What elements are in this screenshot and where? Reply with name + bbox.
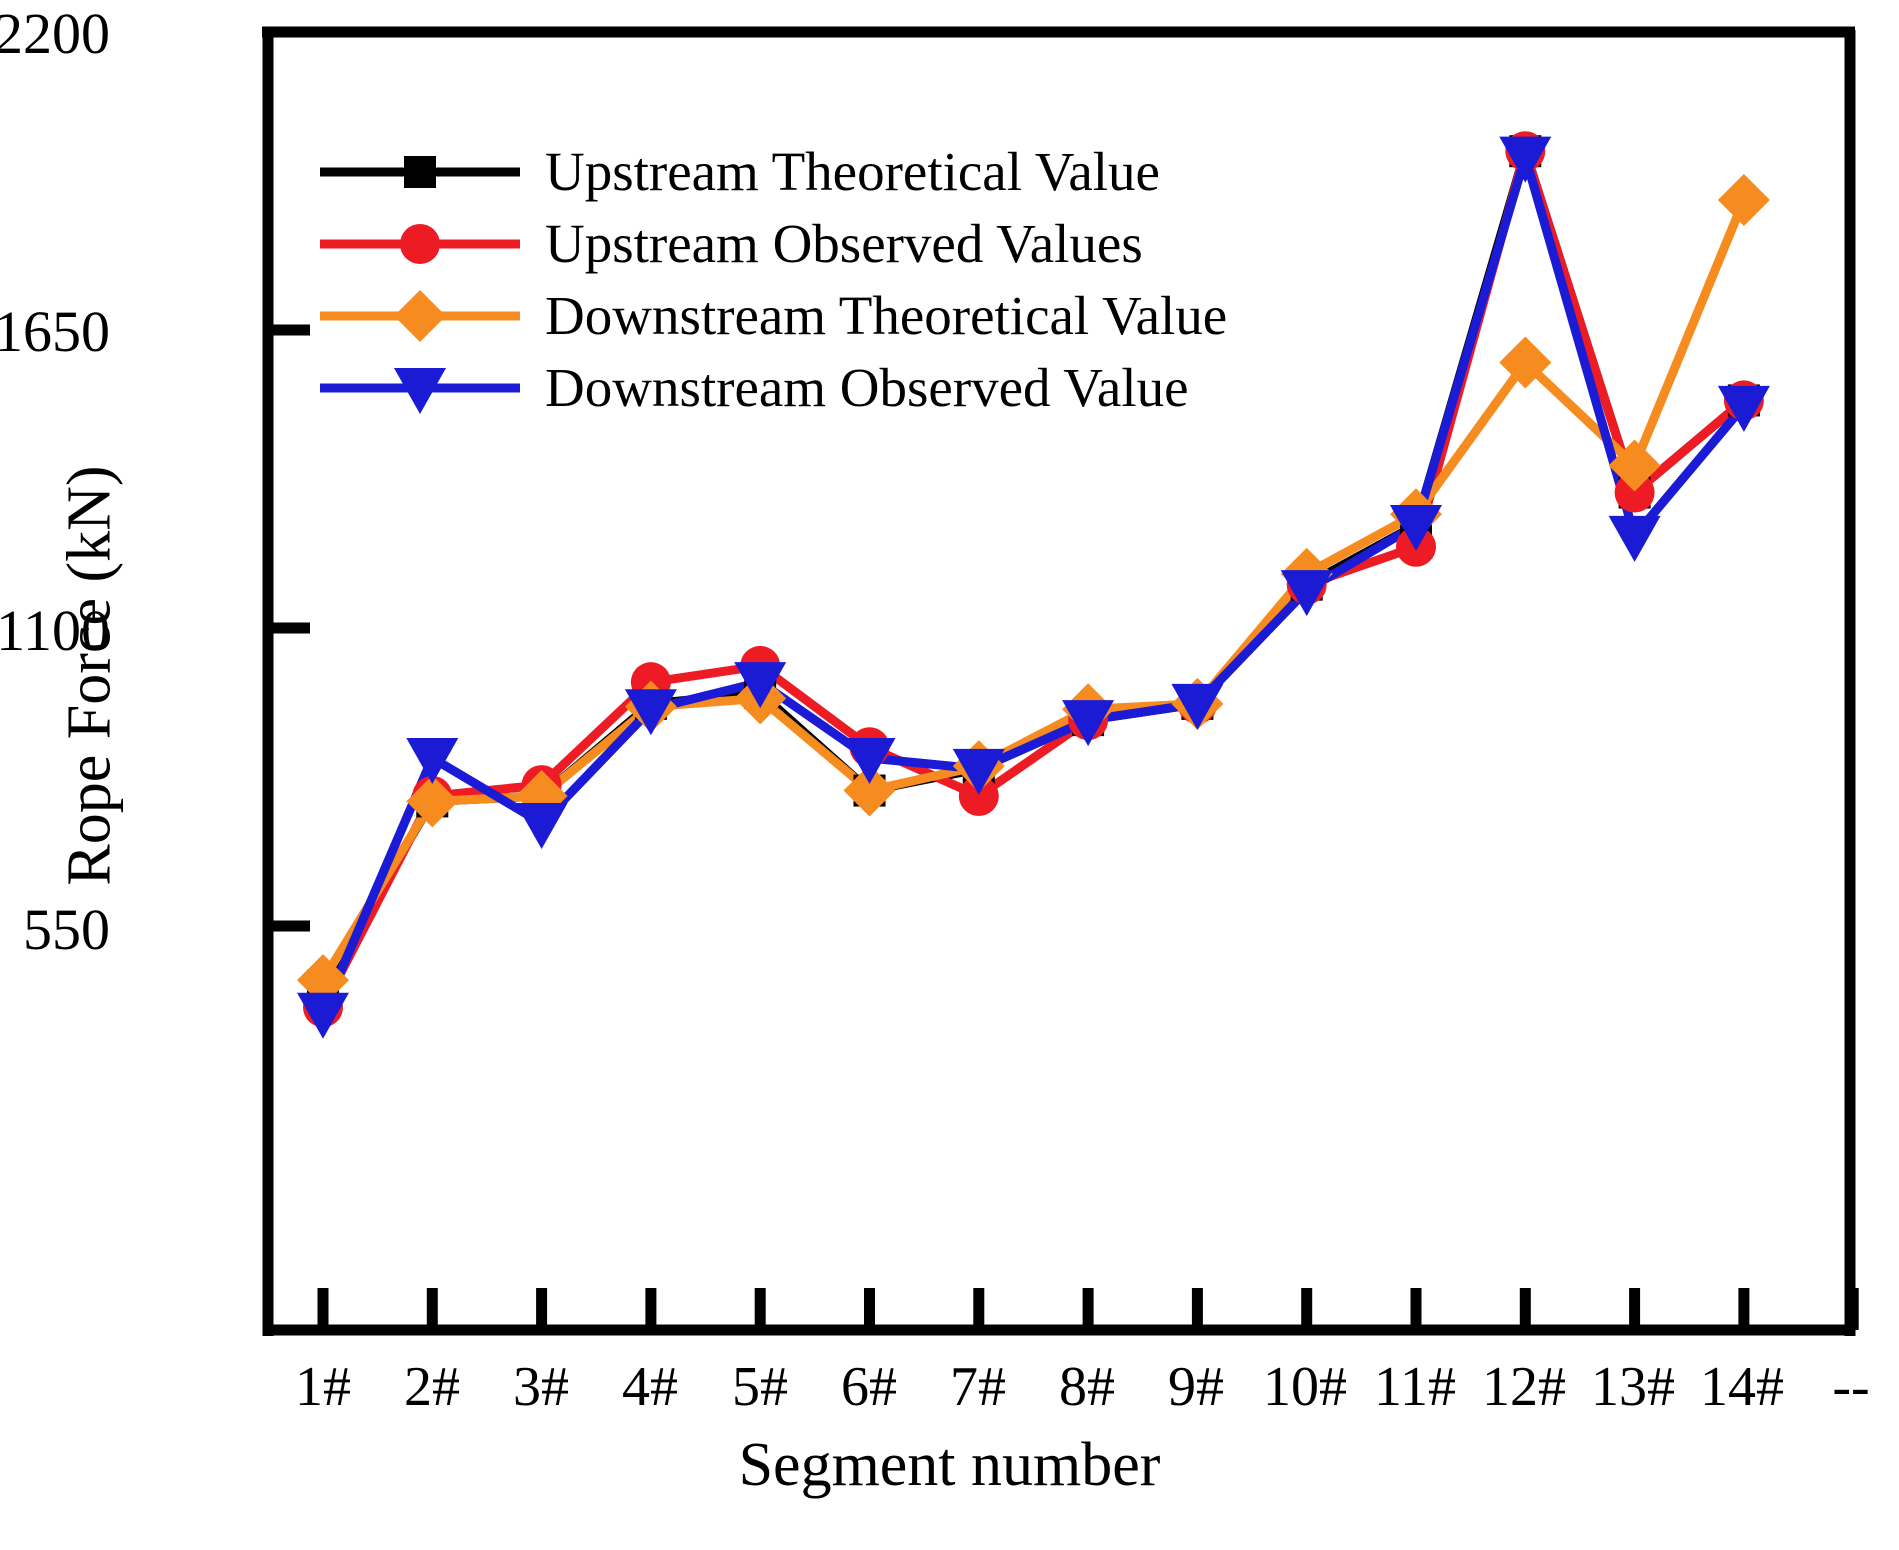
chart-figure: Rope Force (kN) Segment number 2200 1650…: [0, 0, 1899, 1550]
axis-frame: [262, 30, 1855, 1336]
data-series-layer: [297, 131, 1770, 1038]
plot-canvas: [0, 0, 1899, 1550]
legend-glyphs: [320, 156, 520, 414]
y-axis-ticks: [268, 32, 310, 926]
x-axis-ticks: [323, 1288, 1853, 1330]
